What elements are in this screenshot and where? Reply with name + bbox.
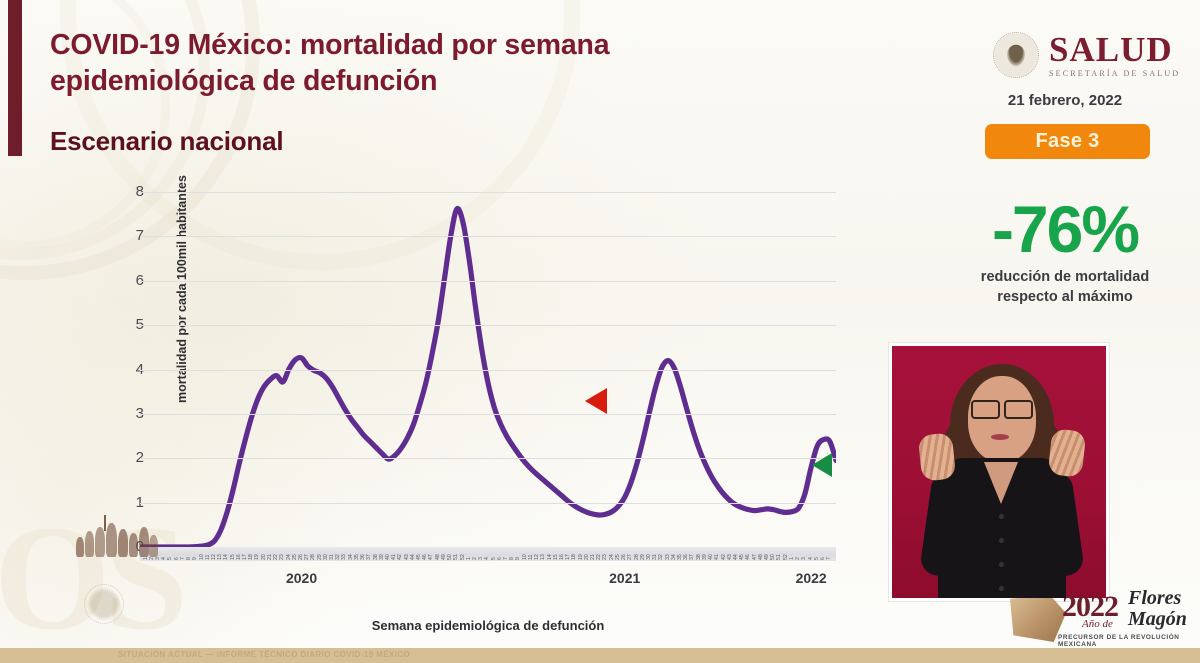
chart-x-tick: 4 — [484, 557, 490, 560]
chart-x-tick: 27 — [627, 554, 633, 560]
interpreter-button — [999, 562, 1004, 567]
chart-x-tick: 1 — [466, 557, 472, 560]
chart-x-tick: 37 — [366, 554, 372, 560]
chart-x-tick: 15 — [230, 554, 236, 560]
chart-x-tick: 25 — [292, 554, 298, 560]
chart-x-tick: 15 — [553, 554, 559, 560]
mexican-eagle-seal-icon — [990, 29, 1042, 81]
footer-note: SITUACIÓN ACTUAL — INFORME TÉCNICO DIARI… — [118, 650, 410, 659]
chart-x-tick: 1 — [143, 557, 149, 560]
chart-year-label: 2021 — [609, 570, 640, 586]
chart-x-tick: 42 — [721, 554, 727, 560]
chart-x-tick: 6 — [497, 557, 503, 560]
chart-gridline — [140, 503, 836, 504]
chart-x-tick: 2 — [149, 557, 155, 560]
chart-x-tick: 38 — [696, 554, 702, 560]
chart-x-tick: 19 — [254, 554, 260, 560]
chart-x-tick: 43 — [404, 554, 410, 560]
chart-x-tick: 32 — [658, 554, 664, 560]
chart-gridline — [140, 281, 836, 282]
chart-x-tick: 24 — [609, 554, 615, 560]
reduction-caption-line2: respecto al máximo — [930, 288, 1200, 308]
reduction-caption-line1: reducción de mortalidad — [930, 268, 1200, 288]
chart-gridline — [140, 414, 836, 415]
chart-y-tick: 4 — [110, 361, 144, 378]
interpreter-right-hand — [1048, 428, 1087, 477]
left-accent-bar — [8, 0, 22, 156]
chart-x-tick: 42 — [397, 554, 403, 560]
chart-x-tick: 10 — [199, 554, 205, 560]
chart-x-tick: 34 — [671, 554, 677, 560]
chart-x-tick: 5 — [814, 557, 820, 560]
chart-x-tick: 39 — [702, 554, 708, 560]
sign-language-interpreter-video[interactable] — [889, 343, 1109, 601]
chart-plot-area — [140, 192, 836, 547]
chart-x-tick: 23 — [602, 554, 608, 560]
chart-gridline — [140, 370, 836, 371]
chart-gridline — [140, 236, 836, 237]
interpreter-glasses — [971, 400, 1033, 415]
interpreter-mouth — [991, 434, 1009, 440]
chart-x-tick: 35 — [354, 554, 360, 560]
chart-year-label: 2022 — [796, 570, 827, 586]
chart-y-tick: 0 — [110, 538, 144, 555]
chart-x-tick: 23 — [279, 554, 285, 560]
chart-x-tick: 47 — [752, 554, 758, 560]
chart-x-tick: 48 — [435, 554, 441, 560]
flores-magon-name: FloresMagón — [1128, 588, 1187, 630]
chart-x-tick: 14 — [223, 554, 229, 560]
chart-y-tick: 8 — [110, 183, 144, 200]
chart-x-tick: 48 — [758, 554, 764, 560]
chart-x-tick: 29 — [317, 554, 323, 560]
chart-x-tick: 28 — [310, 554, 316, 560]
chart-x-tick: 3 — [801, 557, 807, 560]
chart-x-tick: 47 — [428, 554, 434, 560]
chart-x-tick: 49 — [441, 554, 447, 560]
chart-y-tick: 5 — [110, 316, 144, 333]
chart-x-axis-title: Semana epidemiológica de defunción — [140, 618, 836, 633]
page-subtitle: Escenario nacional — [50, 126, 283, 157]
chart-x-tick: 9 — [515, 557, 521, 560]
salud-logo-subtitle: SECRETARÍA DE SALUD — [1049, 70, 1180, 78]
video-frame — [892, 346, 1106, 598]
chart-x-tick: 24 — [286, 554, 292, 560]
chart-x-tick: 20 — [261, 554, 267, 560]
mortality-line-chart: mortalidad por cada 100mil habitantes 01… — [76, 186, 836, 598]
chart-x-tick: 5 — [491, 557, 497, 560]
chart-x-tick: 33 — [665, 554, 671, 560]
chart-x-tick: 44 — [410, 554, 416, 560]
chart-x-tick: 29 — [640, 554, 646, 560]
chart-x-tick: 33 — [341, 554, 347, 560]
chart-x-tick: 43 — [727, 554, 733, 560]
interpreter-face — [968, 376, 1036, 462]
chart-x-tick: 10 — [522, 554, 528, 560]
chart-x-tick: 25 — [615, 554, 621, 560]
chart-x-tick: 30 — [323, 554, 329, 560]
chart-x-tick: 52 — [460, 554, 466, 560]
chart-x-tick: 7 — [826, 557, 832, 560]
chart-x-axis-band: 1234567891011121314151617181920212223242… — [140, 547, 836, 561]
chart-gridline — [140, 325, 836, 326]
chart-x-tick: 5 — [167, 557, 173, 560]
salud-logo: SALUD SECRETARÍA DE SALUD — [990, 26, 1190, 84]
chart-x-tick: 20 — [584, 554, 590, 560]
chart-x-tick: 6 — [174, 557, 180, 560]
report-date: 21 febrero, 2022 — [930, 92, 1200, 109]
chart-y-tick: 1 — [110, 494, 144, 511]
chart-x-tick: 52 — [783, 554, 789, 560]
salud-logo-word: SALUD — [1049, 32, 1180, 67]
chart-x-tick: 11 — [528, 555, 534, 560]
interpreter-left-hand — [918, 432, 957, 481]
chart-gridline — [140, 458, 836, 459]
phase-badge: Fase 3 — [985, 124, 1150, 159]
chart-gridline — [140, 192, 836, 193]
peak-marker-icon — [585, 388, 607, 414]
chart-x-tick: 14 — [547, 554, 553, 560]
chart-x-tick: 11 — [205, 555, 211, 560]
interpreter-button — [999, 586, 1004, 591]
chart-x-tick: 51 — [776, 554, 782, 560]
chart-series-line — [140, 208, 836, 547]
chart-x-tick: 46 — [745, 554, 751, 560]
chart-x-tick: 21 — [267, 554, 273, 560]
chart-x-tick: 16 — [236, 554, 242, 560]
reduction-caption: reducción de mortalidad respecto al máxi… — [930, 268, 1200, 307]
interpreter-button — [999, 514, 1004, 519]
chart-x-tick: 1 — [789, 557, 795, 560]
chart-y-tick: 6 — [110, 272, 144, 289]
chart-x-tick: 9 — [192, 557, 198, 560]
chart-x-tick: 4 — [808, 557, 814, 560]
chart-x-tick: 51 — [453, 554, 459, 560]
interpreter-button — [999, 538, 1004, 543]
chart-x-tick: 13 — [540, 554, 546, 560]
chart-y-tick: 7 — [110, 227, 144, 244]
chart-x-tick: 41 — [714, 554, 720, 560]
flores-magon-ano-de: Año de — [1082, 618, 1113, 630]
chart-x-tick: 39 — [379, 554, 385, 560]
chart-x-tick: 37 — [689, 554, 695, 560]
current-value-marker-icon — [812, 453, 832, 477]
chart-x-tick: 38 — [373, 554, 379, 560]
reduction-percent: -76% — [930, 196, 1200, 262]
chart-y-tick: 2 — [110, 449, 144, 466]
chart-x-tick: 19 — [578, 554, 584, 560]
slide-canvas: OS COVID-19 México: mortalidad por seman… — [0, 0, 1200, 663]
chart-x-tick: 7 — [180, 557, 186, 560]
flores-magon-subtitle: PRECURSOR DE LA REVOLUCIÓN MEXICANA — [1058, 634, 1200, 646]
chart-x-tick: 34 — [348, 554, 354, 560]
page-title: COVID-19 México: mortalidad por semana e… — [50, 28, 750, 100]
chart-y-tick: 3 — [110, 405, 144, 422]
chart-x-tick: 28 — [634, 554, 640, 560]
chart-year-label: 2020 — [286, 570, 317, 586]
chart-x-tick: 18 — [571, 554, 577, 560]
